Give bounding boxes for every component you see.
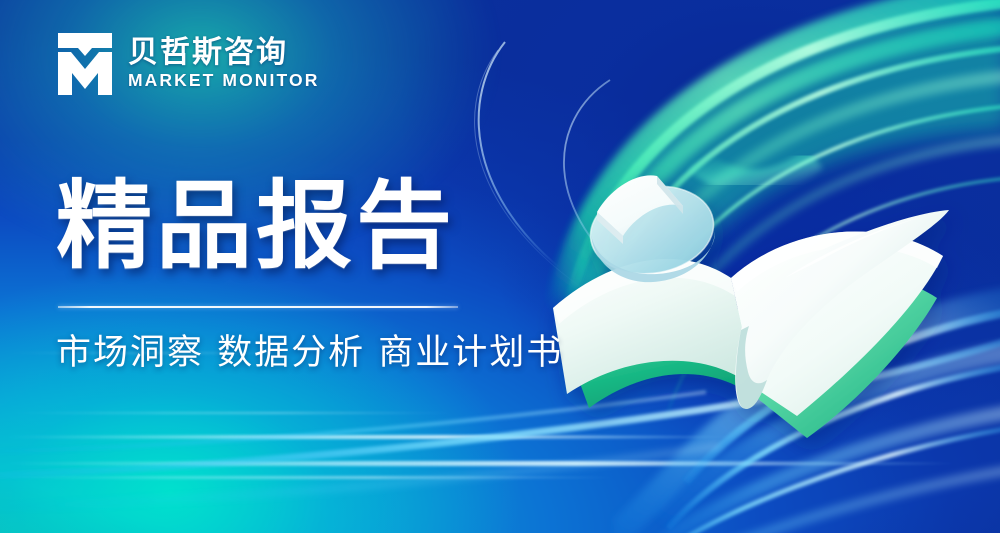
page-title: 精品报告 (56, 175, 456, 279)
brand-logo: 贝哲斯咨询 MARKET MONITOR (58, 33, 319, 95)
open-book-illustration (545, 150, 965, 450)
page-subtitle: 市场洞察 数据分析 商业计划书 (56, 332, 563, 376)
title-divider (58, 306, 458, 308)
market-monitor-m-logo-icon (58, 33, 112, 95)
report-banner: 贝哲斯咨询 MARKET MONITOR 精品报告 市场洞察 数据分析 商业计划… (0, 0, 1000, 533)
brand-name-cn: 贝哲斯咨询 (128, 38, 319, 68)
brand-logo-text: 贝哲斯咨询 MARKET MONITOR (128, 38, 319, 90)
brand-name-en: MARKET MONITOR (128, 72, 319, 90)
